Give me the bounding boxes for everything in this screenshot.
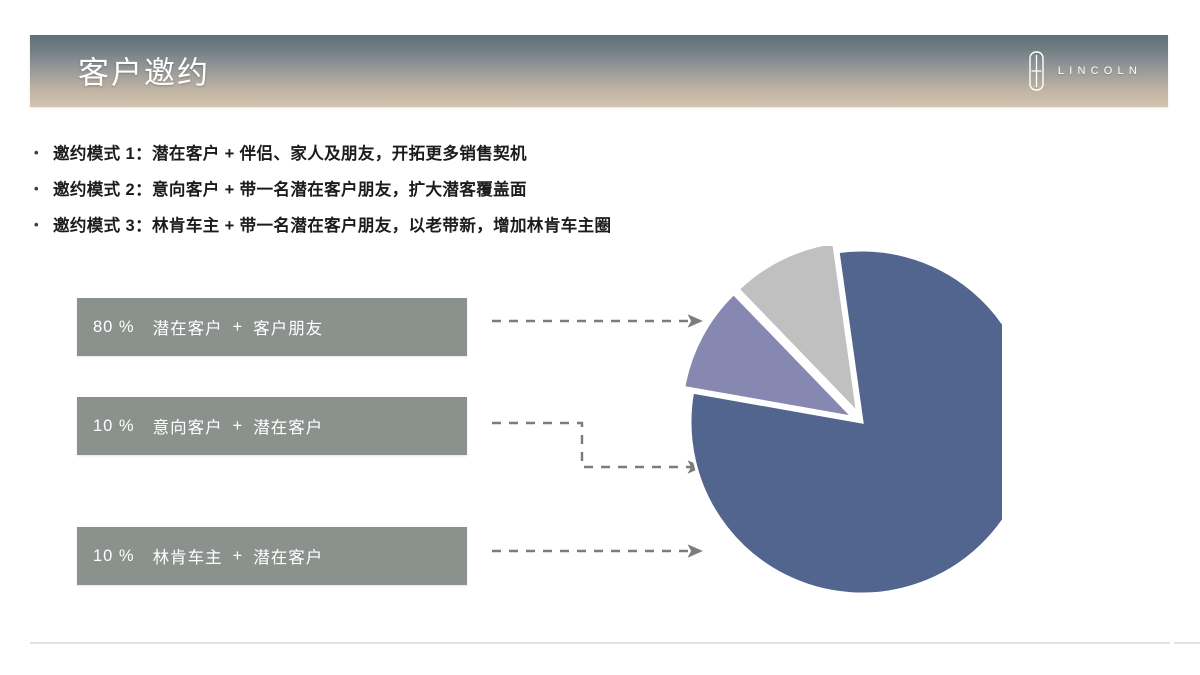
lincoln-emblem-icon (1029, 51, 1044, 91)
bullet-marker-icon: • (34, 146, 39, 159)
bullet-text: 邀约模式 1：潜在客户 + 伴侣、家人及朋友，开拓更多销售契机 (53, 140, 527, 164)
bullet-list: • 邀约模式 1：潜在客户 + 伴侣、家人及朋友，开拓更多销售契机 • 邀约模式… (34, 140, 1034, 248)
segment-percent: 80 % (93, 318, 135, 337)
segment-plus-sign: + (233, 318, 244, 337)
brand-lockup: LINCOLN (1029, 51, 1142, 91)
segment-right-label: 潜在客户 (253, 414, 323, 438)
bullet-text: 邀约模式 2：意向客户 + 带一名潜在客户朋友，扩大潜客覆盖面 (53, 176, 527, 200)
slide-canvas: 客户邀约 LINCOLN • 邀约模式 1：潜在客户 + 伴侣、家人及朋友，开拓… (0, 0, 1200, 675)
pie-chart (672, 246, 1002, 608)
segment-left-label: 林肯车主 (153, 544, 223, 568)
slide-header: 客户邀约 LINCOLN (30, 35, 1168, 107)
segment-plus-sign: + (233, 417, 244, 436)
footer-divider (30, 642, 1170, 644)
segment-left-label: 意向客户 (153, 414, 223, 438)
brand-wordmark: LINCOLN (1058, 65, 1142, 77)
segment-bar-intent-customer: 10 % 意向客户 + 潜在客户 (77, 397, 467, 455)
bullet-item: • 邀约模式 1：潜在客户 + 伴侣、家人及朋友，开拓更多销售契机 (34, 140, 1034, 164)
segment-bar-potential-customer: 80 % 潜在客户 + 客户朋友 (77, 298, 467, 356)
segment-percent: 10 % (93, 547, 135, 566)
segment-right-label: 潜在客户 (253, 544, 323, 568)
page-title: 客户邀约 (78, 48, 210, 93)
segment-percent: 10 % (93, 417, 135, 436)
bullet-item: • 邀约模式 3：林肯车主 + 带一名潜在客户朋友，以老带新，增加林肯车主圈 (34, 212, 1034, 236)
segment-bar-lincoln-owner: 10 % 林肯车主 + 潜在客户 (77, 527, 467, 585)
bullet-item: • 邀约模式 2：意向客户 + 带一名潜在客户朋友，扩大潜客覆盖面 (34, 176, 1034, 200)
bullet-text: 邀约模式 3：林肯车主 + 带一名潜在客户朋友，以老带新，增加林肯车主圈 (53, 212, 611, 236)
segment-left-label: 潜在客户 (153, 315, 223, 339)
segment-plus-sign: + (233, 547, 244, 566)
bullet-marker-icon: • (34, 218, 39, 231)
bullet-marker-icon: • (34, 182, 39, 195)
segment-right-label: 客户朋友 (253, 315, 323, 339)
